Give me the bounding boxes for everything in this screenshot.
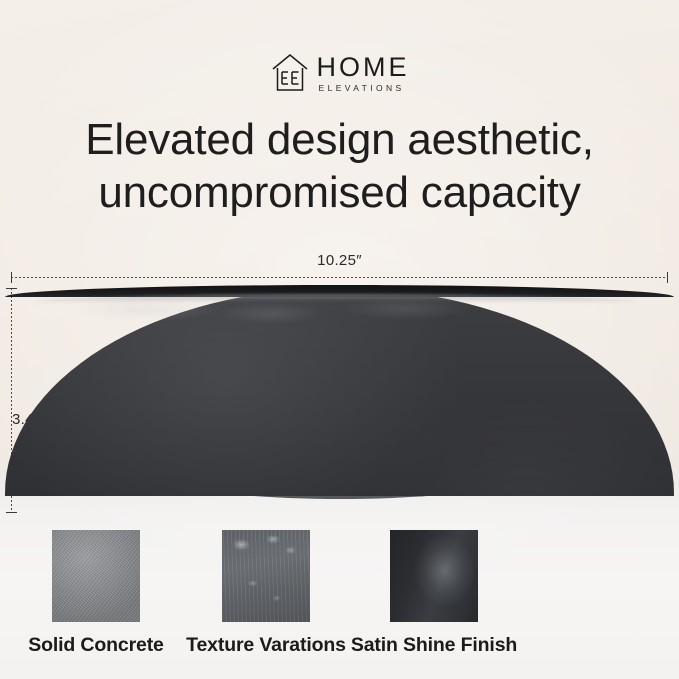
feature-label-texture-variations: Texture Varations	[186, 634, 346, 657]
width-dimension-line	[11, 277, 668, 278]
swatch-satin-shine	[390, 530, 478, 622]
product-image-concrete-bowl	[0, 283, 679, 515]
width-tick-left	[11, 272, 12, 283]
headline-line-2: uncompromised capacity	[0, 167, 679, 220]
brand-name-primary: HOME	[317, 54, 410, 81]
feature-item-solid-concrete: Solid Concrete	[52, 530, 140, 622]
bowl-surface-texture	[60, 297, 540, 327]
brand-name-secondary: ELEVATIONS	[317, 84, 405, 93]
brand-logo: HOME ELEVATIONS	[0, 52, 679, 94]
feature-label-satin-shine-finish: Satin Shine Finish	[351, 634, 517, 657]
swatch-solid-concrete	[52, 530, 140, 622]
width-tick-right	[667, 272, 668, 283]
feature-item-satin-shine-finish: Satin Shine Finish	[390, 530, 478, 622]
page-headline: Elevated design aesthetic, uncompromised…	[0, 114, 679, 220]
swatch-texture-variations	[222, 530, 310, 622]
width-dimension-label: 10.25″	[0, 252, 679, 269]
house-monogram-icon	[270, 52, 310, 94]
feature-label-solid-concrete: Solid Concrete	[28, 634, 164, 657]
headline-line-1: Elevated design aesthetic,	[0, 114, 679, 167]
feature-item-texture-variations: Texture Varations	[222, 530, 310, 622]
brand-wordmark: HOME ELEVATIONS	[317, 54, 410, 93]
